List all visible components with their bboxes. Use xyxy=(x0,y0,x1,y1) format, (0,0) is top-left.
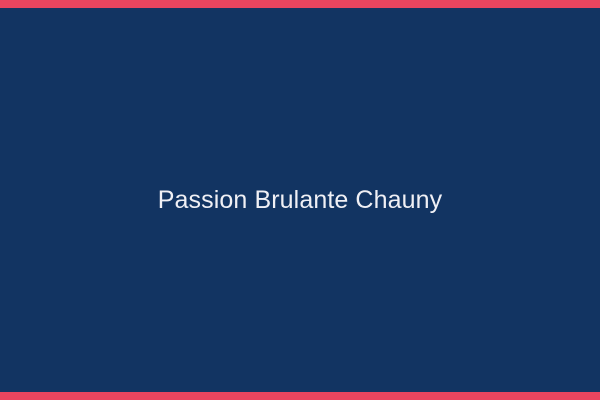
banner-content: Passion Brulante Chauny xyxy=(0,185,600,215)
placeholder-banner: Passion Brulante Chauny xyxy=(0,0,600,400)
bottom-accent-bar xyxy=(0,392,600,400)
banner-title: Passion Brulante Chauny xyxy=(24,185,576,215)
top-accent-bar xyxy=(0,0,600,8)
